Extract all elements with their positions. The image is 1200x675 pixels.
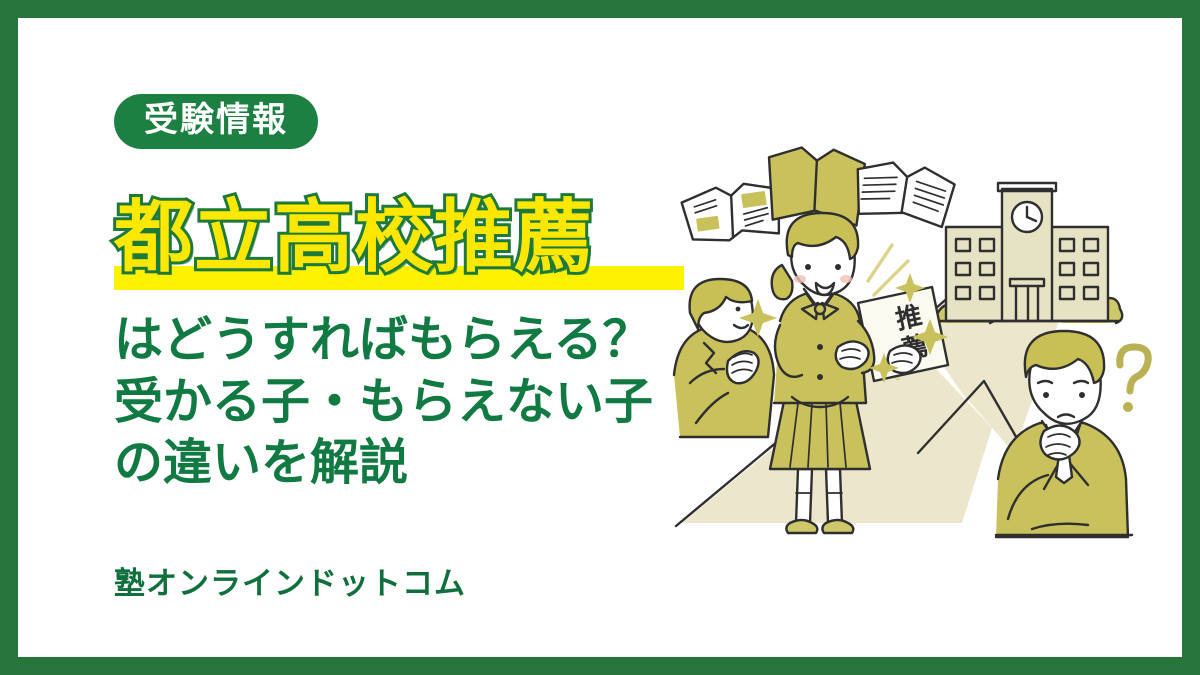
subtitle-line-3: の違いを解説 bbox=[114, 433, 704, 495]
category-badge: 受験情報 bbox=[114, 94, 318, 149]
brand-name: 塾オンラインドットコム bbox=[114, 558, 466, 603]
question-mark-icon bbox=[1120, 347, 1148, 412]
illustration-svg: .ink { fill:none; stroke:#2f2f2f; stroke… bbox=[662, 123, 1172, 603]
text-column: 受験情報 都立高校推薦 はどうすればもらえる？ 受かる子・もらえない子 の違いを… bbox=[100, 18, 700, 657]
illustration-area: .ink { fill:none; stroke:#2f2f2f; stroke… bbox=[662, 123, 1172, 603]
page-title: 都立高校推薦 bbox=[114, 194, 594, 279]
open-book-left bbox=[680, 179, 785, 246]
subtitle-block: はどうすればもらえる？ 受かる子・もらえない子 の違いを解説 bbox=[114, 310, 704, 495]
headline-block: 都立高校推薦 bbox=[114, 194, 694, 290]
open-book-right bbox=[851, 157, 957, 228]
thumbnail-canvas: 受験情報 都立高校推薦 はどうすればもらえる？ 受かる子・もらえない子 の違いを… bbox=[0, 0, 1200, 675]
subtitle-line-2: 受かる子・もらえない子 bbox=[114, 372, 704, 434]
subtitle-line-1: はどうすればもらえる？ bbox=[114, 310, 704, 372]
white-card: 受験情報 都立高校推薦 はどうすればもらえる？ 受かる子・もらえない子 の違いを… bbox=[18, 18, 1182, 657]
school-building bbox=[928, 183, 1122, 323]
